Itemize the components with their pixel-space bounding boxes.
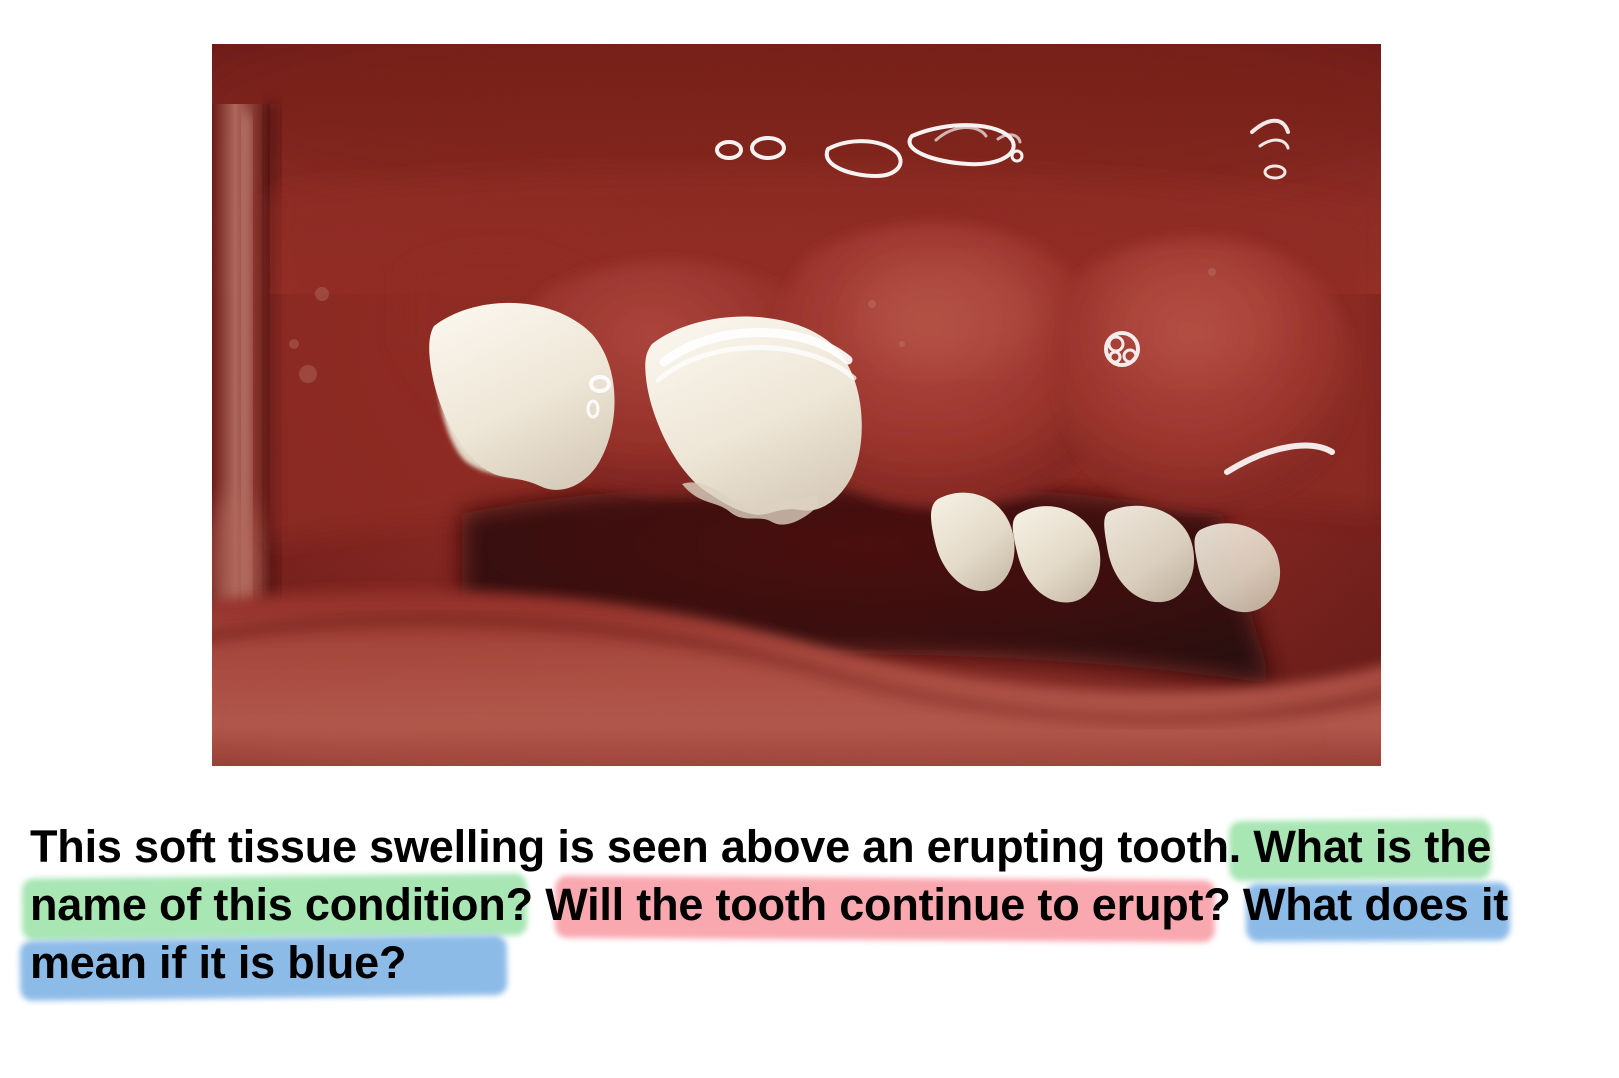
caption-question-1-part-b: name of this condition (30, 879, 506, 930)
intraoral-clinical-photograph (212, 44, 1381, 766)
caption-question-2: Will the tooth continue to erupt (545, 879, 1203, 930)
caption-question-3-part-a: What does (1243, 879, 1469, 930)
caption-question-1-part-a: What is the (1253, 821, 1491, 872)
caption-space-2 (533, 879, 545, 930)
caption-question-1-mark: ? (506, 879, 533, 930)
clinical-photo-container (212, 44, 1381, 766)
caption-space-1 (1241, 821, 1253, 872)
caption-space-3 (1231, 879, 1243, 930)
caption-statement: This soft tissue swelling is seen above … (30, 821, 1241, 872)
caption-question-2-mark: ? (1203, 879, 1230, 930)
caption-block: This soft tissue swelling is seen above … (30, 818, 1510, 992)
photo-grain-overlay (212, 44, 1381, 766)
